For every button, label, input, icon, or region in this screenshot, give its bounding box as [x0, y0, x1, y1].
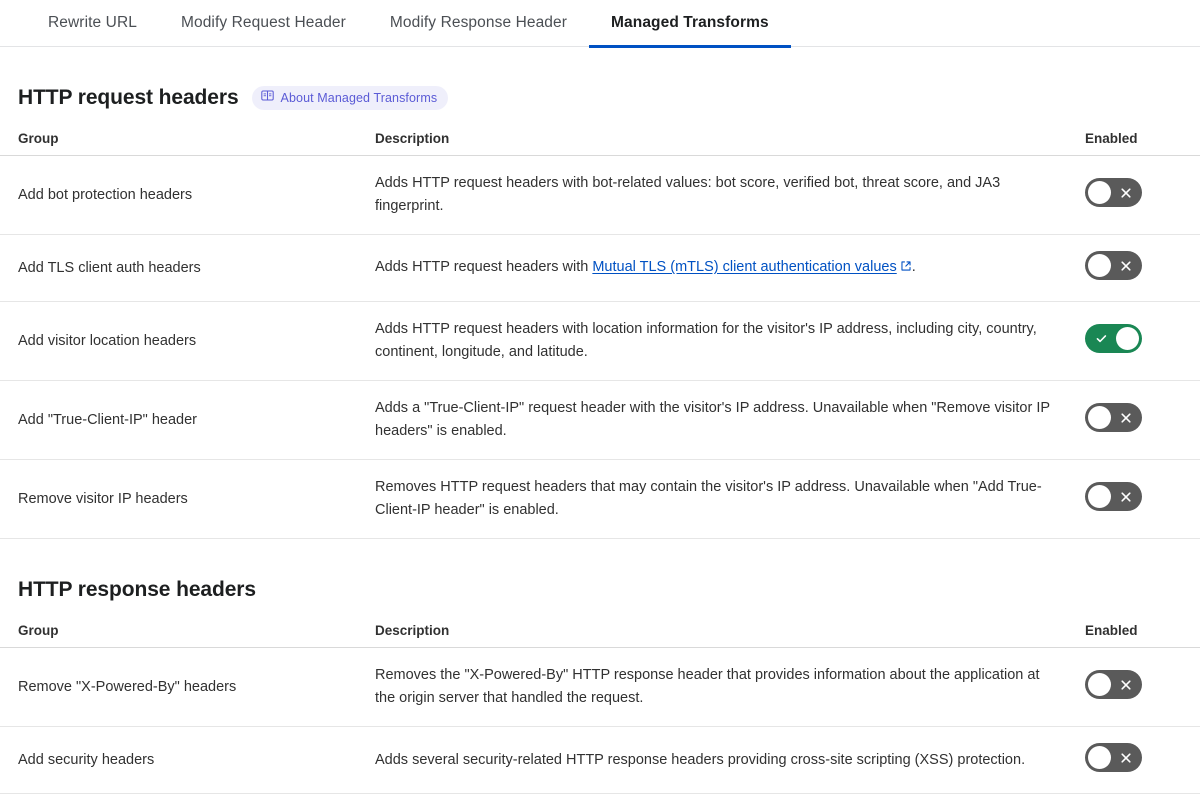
table-header-row: Group Description Enabled — [0, 615, 1200, 648]
section-header-request: HTTP request headers About Managed Trans… — [0, 85, 1200, 111]
column-header-group: Group — [0, 123, 375, 156]
row-description-cell: Adds several security-related HTTP respo… — [375, 727, 1085, 794]
row-enabled-cell — [1085, 235, 1200, 302]
table-row: Remove visitor IP headers Removes HTTP r… — [0, 460, 1200, 539]
row-enabled-cell — [1085, 648, 1200, 727]
tab-modify-request-header[interactable]: Modify Request Header — [159, 0, 368, 47]
about-managed-transforms-link[interactable]: About Managed Transforms — [252, 86, 449, 110]
row-description-cell: Removes the "X-Powered-By" HTTP response… — [375, 648, 1085, 727]
spacer — [0, 539, 1200, 577]
close-icon — [1113, 482, 1139, 511]
toggle-knob — [1116, 327, 1139, 350]
row-group-cell: Add TLS client auth headers — [0, 235, 375, 302]
description-text: Adds HTTP request headers with location … — [375, 318, 1055, 364]
toggle-knob — [1088, 181, 1111, 204]
toggle-add-bot-protection-headers[interactable] — [1085, 178, 1142, 207]
mutual-tls-doc-link[interactable]: Mutual TLS (mTLS) client authentication … — [592, 259, 896, 275]
row-group-cell: Remove "X-Powered-By" headers — [0, 648, 375, 727]
toggle-knob — [1088, 746, 1111, 769]
description-text: Adds a "True-Client-IP" request header w… — [375, 397, 1055, 443]
group-label: Add "True-Client-IP" header — [18, 410, 375, 430]
row-group-cell: Add visitor location headers — [0, 302, 375, 381]
check-icon — [1088, 324, 1114, 353]
group-label: Remove "X-Powered-By" headers — [18, 677, 375, 697]
row-group-cell: Add security headers — [0, 727, 375, 794]
row-description-cell: Removes HTTP request headers that may co… — [375, 460, 1085, 539]
spacer — [0, 603, 1200, 615]
description-text: Adds several security-related HTTP respo… — [375, 749, 1055, 772]
row-description-cell: Adds HTTP request headers with Mutual TL… — [375, 235, 1085, 302]
about-chip-label: About Managed Transforms — [281, 90, 438, 106]
description-text: Adds HTTP request headers with bot-relat… — [375, 172, 1055, 218]
tab-modify-response-header[interactable]: Modify Response Header — [368, 0, 589, 47]
table-row: Add bot protection headers Adds HTTP req… — [0, 156, 1200, 235]
description-text: Removes HTTP request headers that may co… — [375, 476, 1055, 522]
toggle-add-true-client-ip-header[interactable] — [1085, 403, 1142, 432]
toggle-knob — [1088, 673, 1111, 696]
table-header-row: Group Description Enabled — [0, 123, 1200, 156]
row-group-cell: Add "True-Client-IP" header — [0, 381, 375, 460]
column-header-enabled: Enabled — [1085, 615, 1200, 648]
column-header-group: Group — [0, 615, 375, 648]
table-row: Add TLS client auth headers Adds HTTP re… — [0, 235, 1200, 302]
external-link-icon — [900, 257, 912, 280]
table-row: Add security headers Adds several securi… — [0, 727, 1200, 794]
page-title-response-headers: HTTP response headers — [18, 577, 256, 603]
tab-bar: Rewrite URL Modify Request Header Modify… — [0, 0, 1200, 47]
toggle-remove-x-powered-by-headers[interactable] — [1085, 670, 1142, 699]
close-icon — [1113, 670, 1139, 699]
row-enabled-cell — [1085, 727, 1200, 794]
toggle-knob — [1088, 254, 1111, 277]
table-row: Add visitor location headers Adds HTTP r… — [0, 302, 1200, 381]
row-description-cell: Adds HTTP request headers with bot-relat… — [375, 156, 1085, 235]
managed-transforms-request-table: Group Description Enabled Add bot protec… — [0, 123, 1200, 539]
table-row: Add "True-Client-IP" header Adds a "True… — [0, 381, 1200, 460]
toggle-add-security-headers[interactable] — [1085, 743, 1142, 772]
group-label: Add TLS client auth headers — [18, 258, 375, 278]
section-http-response-headers: HTTP response headers Group Description … — [0, 577, 1200, 794]
toggle-add-visitor-location-headers[interactable] — [1085, 324, 1142, 353]
close-icon — [1113, 403, 1139, 432]
description-text: Adds HTTP request headers with Mutual TL… — [375, 256, 1055, 280]
row-group-cell: Remove visitor IP headers — [0, 460, 375, 539]
page-title-request-headers: HTTP request headers — [18, 85, 239, 111]
description-text-after: . — [912, 259, 916, 275]
group-label: Add visitor location headers — [18, 331, 375, 351]
book-icon — [261, 89, 274, 107]
managed-transforms-response-table: Group Description Enabled Remove "X-Powe… — [0, 615, 1200, 794]
section-header-response: HTTP response headers — [0, 577, 1200, 603]
tab-rewrite-url[interactable]: Rewrite URL — [26, 0, 159, 47]
description-text-before: Adds HTTP request headers with — [375, 259, 592, 275]
group-label: Add bot protection headers — [18, 185, 375, 205]
toggle-remove-visitor-ip-headers[interactable] — [1085, 482, 1142, 511]
description-text: Removes the "X-Powered-By" HTTP response… — [375, 664, 1055, 710]
column-header-enabled: Enabled — [1085, 123, 1200, 156]
row-enabled-cell — [1085, 460, 1200, 539]
row-description-cell: Adds a "True-Client-IP" request header w… — [375, 381, 1085, 460]
toggle-knob — [1088, 485, 1111, 508]
row-group-cell: Add bot protection headers — [0, 156, 375, 235]
close-icon — [1113, 251, 1139, 280]
column-header-description: Description — [375, 123, 1085, 156]
group-label: Add security headers — [18, 750, 375, 770]
spacer — [0, 111, 1200, 123]
close-icon — [1113, 178, 1139, 207]
tab-managed-transforms[interactable]: Managed Transforms — [589, 0, 791, 47]
spacer — [0, 47, 1200, 85]
group-label: Remove visitor IP headers — [18, 489, 375, 509]
toggle-add-tls-client-auth-headers[interactable] — [1085, 251, 1142, 280]
toggle-knob — [1088, 406, 1111, 429]
row-enabled-cell — [1085, 381, 1200, 460]
close-icon — [1113, 743, 1139, 772]
table-row: Remove "X-Powered-By" headers Removes th… — [0, 648, 1200, 727]
row-description-cell: Adds HTTP request headers with location … — [375, 302, 1085, 381]
row-enabled-cell — [1085, 302, 1200, 381]
row-enabled-cell — [1085, 156, 1200, 235]
column-header-description: Description — [375, 615, 1085, 648]
section-http-request-headers: HTTP request headers About Managed Trans… — [0, 85, 1200, 539]
